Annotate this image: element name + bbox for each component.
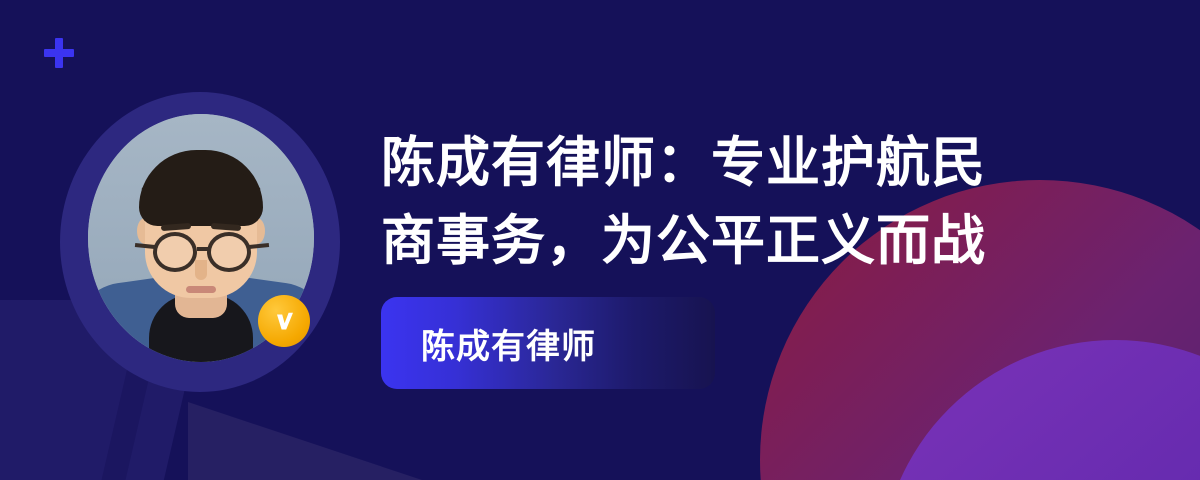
profile-banner: 陈成有律师：专业护航民 商事务，为公平正义而战 陈成有律师 [0,0,1200,480]
portrait-glasses-bridge [197,247,209,251]
portrait-glasses-lens-right [207,232,251,272]
verified-badge-icon [258,295,310,347]
page-title: 陈成有律师：专业护航民 商事务，为公平正义而战 [381,124,1081,280]
plus-icon [44,38,74,68]
author-name-button[interactable]: 陈成有律师 [381,297,715,389]
portrait-mouth [186,286,216,293]
portrait-glasses-lens-left [153,232,197,272]
portrait-nose [195,260,207,280]
decor-shape-wedge [188,402,548,480]
author-name-label: 陈成有律师 [421,319,596,368]
plus-icon-bar-vertical [55,38,63,68]
avatar[interactable] [60,92,340,392]
